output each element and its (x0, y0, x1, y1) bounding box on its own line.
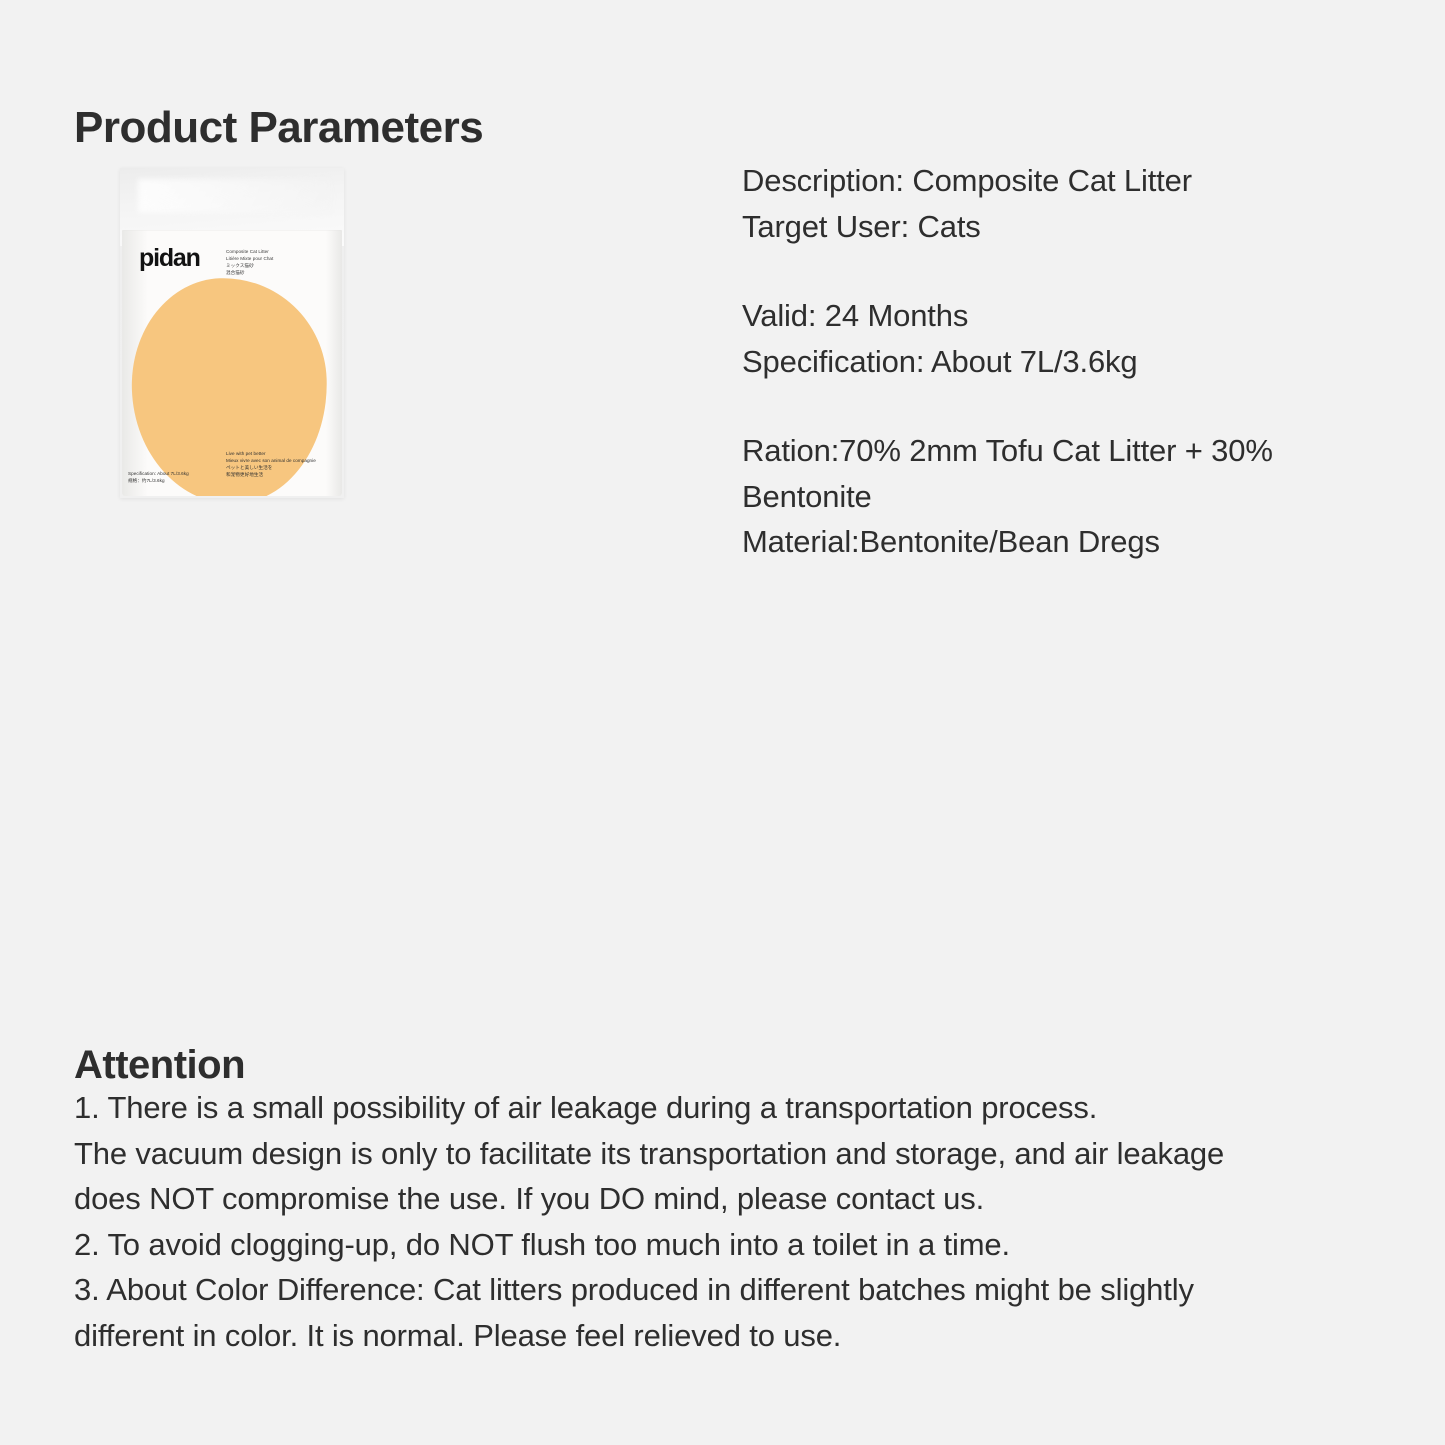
attention-line: 1. There is a small possibility of air l… (74, 1085, 1394, 1131)
attention-line: The vacuum design is only to facilitate … (74, 1131, 1394, 1177)
package-specification-line: Specification: About 7L/3.6kg (128, 470, 189, 477)
attention-line: does NOT compromise the use. If you DO m… (74, 1176, 1394, 1222)
package-description-line: 混合猫砂 (226, 269, 273, 276)
package-front-panel: pidan Composite Cat Litter Litière Mixte… (122, 230, 342, 496)
spec-line-ration-continued: Bentonite (742, 474, 1382, 520)
package-tagline-line: Live with pet better (226, 450, 316, 457)
spec-group-composition: Ration:70% 2mm Tofu Cat Litter + 30% Ben… (742, 428, 1382, 565)
package-description-block: Composite Cat Litter Litière Mixte pour … (226, 248, 273, 276)
package-specification-block: Specification: About 7L/3.6kg 规格：约7L/3.6… (128, 470, 189, 484)
attention-line: different in color. It is normal. Please… (74, 1313, 1394, 1359)
package-tagline-block: Live with pet better Mieux vivre avec so… (226, 450, 316, 478)
attention-line: 2. To avoid clogging-up, do NOT flush to… (74, 1222, 1394, 1268)
package-tagline-line: 和宠物更好地生活 (226, 471, 316, 478)
package-description-line: Litière Mixte pour Chat (226, 255, 273, 262)
package-tagline-line: Mieux vivre avec son animal de compagnie (226, 457, 316, 464)
spec-line-description: Description: Composite Cat Litter (742, 158, 1382, 204)
package-sheen-right (326, 230, 342, 496)
spec-line-valid: Valid: 24 Months (742, 293, 1382, 339)
package-brand-logo: pidan (139, 246, 200, 271)
page-title: Product Parameters (74, 103, 483, 153)
attention-heading: Attention (74, 1043, 245, 1088)
spec-line-specification: Specification: About 7L/3.6kg (742, 339, 1382, 385)
attention-text-block: 1. There is a small possibility of air l… (74, 1085, 1394, 1358)
package-description-line: ミックス猫砂 (226, 262, 273, 269)
package-description-line: Composite Cat Litter (226, 248, 273, 255)
package-tagline-line: ペットと美しい生活を (226, 464, 316, 471)
attention-line: 3. About Color Difference: Cat litters p… (74, 1267, 1394, 1313)
package-specification-line: 规格：约7L/3.6kg (128, 477, 189, 484)
product-spec-list: Description: Composite Cat Litter Target… (742, 158, 1382, 565)
spec-line-material: Material:Bentonite/Bean Dregs (742, 519, 1382, 565)
spec-line-target-user: Target User: Cats (742, 204, 1382, 250)
spec-group-general: Description: Composite Cat Litter Target… (742, 158, 1382, 249)
spec-group-validity: Valid: 24 Months Specification: About 7L… (742, 293, 1382, 384)
product-package-image: pidan Composite Cat Litter Litière Mixte… (120, 168, 344, 498)
spec-line-ration: Ration:70% 2mm Tofu Cat Litter + 30% (742, 428, 1382, 474)
